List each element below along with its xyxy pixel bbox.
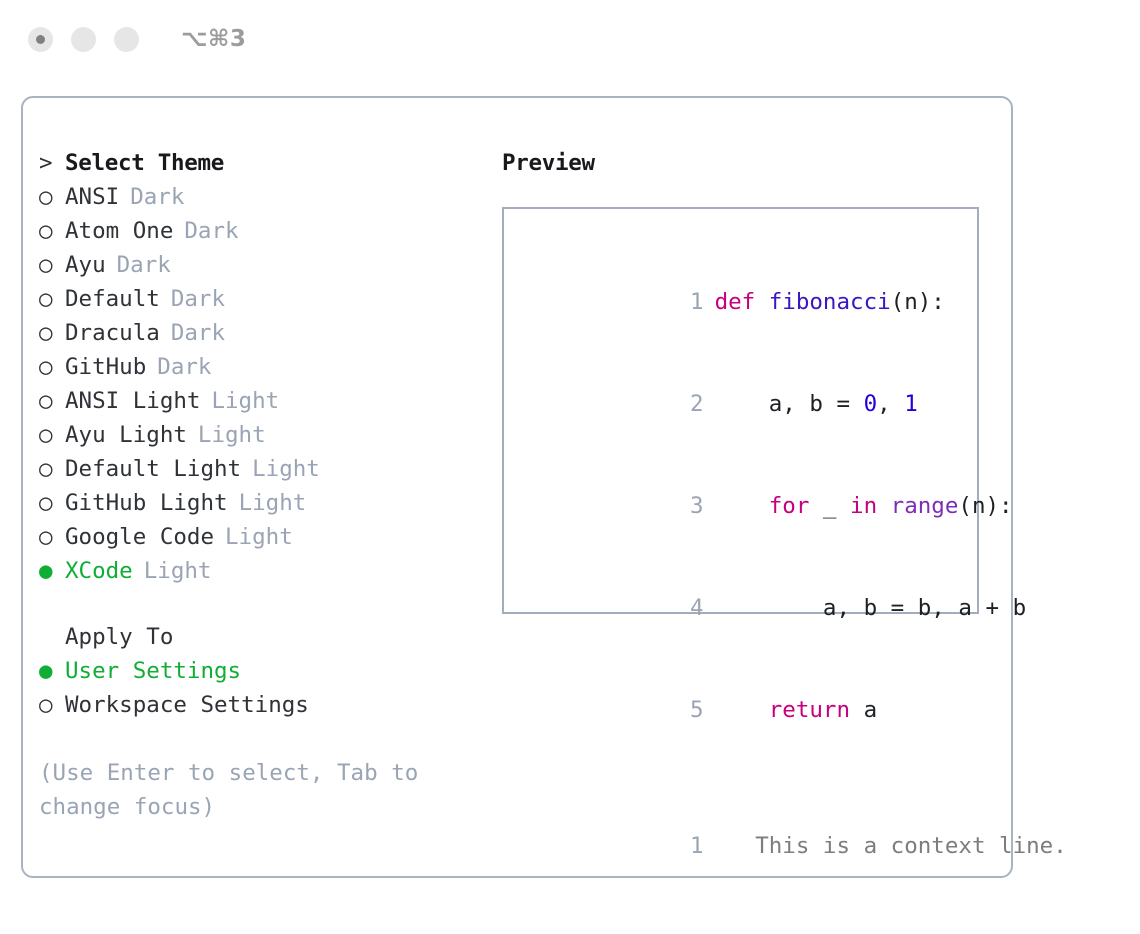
code-token: a, b = <box>715 391 864 417</box>
theme-option-ansi[interactable]: ○ ANSI Dark <box>39 180 499 214</box>
code-token: fibonacci <box>769 289 891 315</box>
window-dot-second-icon[interactable] <box>71 27 96 52</box>
theme-option-tag: Light <box>144 554 212 588</box>
main-panel: > Select Theme ○ ANSI Dark ○ Atom One Da… <box>21 96 1013 878</box>
radio-unselected-icon: ○ <box>39 452 65 486</box>
line-number: 5 <box>682 693 704 727</box>
code-token: (n): <box>958 493 1012 519</box>
preview-column: Preview 1def fibonacci(n): 2 a, b = 0, 1… <box>502 146 992 614</box>
apply-to-option-user-settings[interactable]: ● User Settings <box>39 654 499 688</box>
radio-unselected-icon: ○ <box>39 384 65 418</box>
apply-to-option-label: User Settings <box>65 654 241 688</box>
code-token: a <box>850 697 877 723</box>
preview-title: Preview <box>502 146 992 180</box>
theme-option-tag: Light <box>198 418 266 452</box>
line-number: 2 <box>682 387 704 421</box>
theme-option-github-light[interactable]: ○ GitHub Light Light <box>39 486 499 520</box>
preview-box: 1def fibonacci(n): 2 a, b = 0, 1 3 for _… <box>502 207 979 614</box>
preview-gap <box>519 761 977 795</box>
radio-unselected-icon: ○ <box>39 180 65 214</box>
theme-option-tag: Dark <box>157 350 211 384</box>
code-line: 3 for _ in range(n): <box>519 455 977 557</box>
theme-option-default-light[interactable]: ○ Default Light Light <box>39 452 499 486</box>
theme-option-tag: Light <box>225 520 293 554</box>
theme-option-github[interactable]: ○ GitHub Dark <box>39 350 499 384</box>
code-token: , <box>877 391 904 417</box>
theme-option-label: Default <box>65 282 160 316</box>
theme-option-dracula[interactable]: ○ Dracula Dark <box>39 316 499 350</box>
apply-to-option-label: Workspace Settings <box>65 688 309 722</box>
window-dot-active-icon[interactable] <box>28 27 53 52</box>
theme-option-xcode[interactable]: ● XCode Light <box>39 554 499 588</box>
caret-icon: > <box>39 146 65 180</box>
section-spacer <box>39 588 499 620</box>
code-line: 2 a, b = 0, 1 <box>519 353 977 455</box>
code-line: 5 return a <box>519 659 977 761</box>
select-theme-heading-label: Select Theme <box>65 146 224 180</box>
theme-option-tag: Dark <box>171 282 225 316</box>
code-token: 1 <box>904 391 918 417</box>
code-token: 0 <box>864 391 878 417</box>
app-root: ⌥⌘3 > Select Theme ○ ANSI Dark ○ Atom On… <box>0 0 1140 934</box>
theme-option-atom-one[interactable]: ○ Atom One Dark <box>39 214 499 248</box>
theme-option-label: ANSI Light <box>65 384 200 418</box>
apply-to-heading: Apply To <box>39 620 499 654</box>
diff-line-context: 1 This is a context line. <box>519 795 977 897</box>
radio-unselected-icon: ○ <box>39 418 65 452</box>
apply-to-option-workspace-settings[interactable]: ○ Workspace Settings <box>39 688 499 722</box>
code-token: return <box>769 697 850 723</box>
radio-unselected-icon: ○ <box>39 316 65 350</box>
radio-unselected-icon: ○ <box>39 248 65 282</box>
line-number: 3 <box>682 489 704 523</box>
code-token <box>877 493 891 519</box>
radio-unselected-icon: ○ <box>39 350 65 384</box>
theme-option-ayu-light[interactable]: ○ Ayu Light Light <box>39 418 499 452</box>
line-number: 1 <box>682 829 704 863</box>
theme-option-label: Default Light <box>65 452 241 486</box>
code-token <box>755 289 769 315</box>
theme-option-label: Ayu Light <box>65 418 187 452</box>
radio-unselected-icon: ○ <box>39 520 65 554</box>
theme-option-label: XCode <box>65 554 133 588</box>
theme-option-label: GitHub Light <box>65 486 228 520</box>
theme-option-label: Google Code <box>65 520 214 554</box>
theme-option-ansi-light[interactable]: ○ ANSI Light Light <box>39 384 499 418</box>
code-token: in <box>850 493 877 519</box>
code-token: for <box>769 493 810 519</box>
diff-line-deleted: 2- This line was deleted. <box>519 897 977 934</box>
theme-option-tag: Dark <box>171 316 225 350</box>
line-number: 4 <box>682 591 704 625</box>
code-line: 1def fibonacci(n): <box>519 251 977 353</box>
theme-selector-column: > Select Theme ○ ANSI Dark ○ Atom One Da… <box>39 146 499 824</box>
code-token <box>715 493 769 519</box>
panel-columns: > Select Theme ○ ANSI Dark ○ Atom One Da… <box>23 98 1011 876</box>
theme-option-google-code[interactable]: ○ Google Code Light <box>39 520 499 554</box>
diff-text: This is a context line. <box>728 833 1067 859</box>
theme-option-label: Ayu <box>65 248 106 282</box>
window-dot-inner <box>36 35 45 44</box>
theme-option-ayu[interactable]: ○ Ayu Dark <box>39 248 499 282</box>
theme-option-tag: Dark <box>130 180 184 214</box>
keyboard-shortcut-label: ⌥⌘3 <box>181 26 246 52</box>
radio-unselected-icon: ○ <box>39 282 65 316</box>
radio-unselected-icon: ○ <box>39 486 65 520</box>
theme-option-label: Dracula <box>65 316 160 350</box>
code-token: _ <box>809 493 850 519</box>
radio-selected-icon: ● <box>39 554 65 588</box>
theme-option-label: ANSI <box>65 180 119 214</box>
select-theme-heading: > Select Theme <box>39 146 499 180</box>
hint-spacer <box>39 722 499 756</box>
theme-option-tag: Light <box>252 452 320 486</box>
code-token: def <box>715 289 756 315</box>
theme-option-tag: Light <box>211 384 279 418</box>
radio-unselected-icon: ○ <box>39 688 65 722</box>
theme-option-tag: Dark <box>184 214 238 248</box>
radio-unselected-icon: ○ <box>39 214 65 248</box>
window-dot-third-icon[interactable] <box>114 27 139 52</box>
code-token: (n): <box>891 289 945 315</box>
theme-option-label: Atom One <box>65 214 173 248</box>
theme-option-tag: Light <box>239 486 307 520</box>
theme-option-tag: Dark <box>117 248 171 282</box>
line-number: 1 <box>682 285 704 319</box>
code-token <box>715 697 769 723</box>
diff-sign <box>715 833 729 859</box>
radio-selected-icon: ● <box>39 654 65 688</box>
apply-to-heading-label: Apply To <box>65 620 173 654</box>
code-line: 4 a, b = b, a + b <box>519 557 977 659</box>
code-token: a, b = b, a + b <box>715 595 1027 621</box>
theme-option-default[interactable]: ○ Default Dark <box>39 282 499 316</box>
title-bar: ⌥⌘3 <box>0 0 1140 78</box>
window-controls <box>28 27 139 52</box>
keyboard-hint-text: (Use Enter to select, Tab to change focu… <box>39 756 459 824</box>
code-token: range <box>891 493 959 519</box>
theme-option-label: GitHub <box>65 350 146 384</box>
